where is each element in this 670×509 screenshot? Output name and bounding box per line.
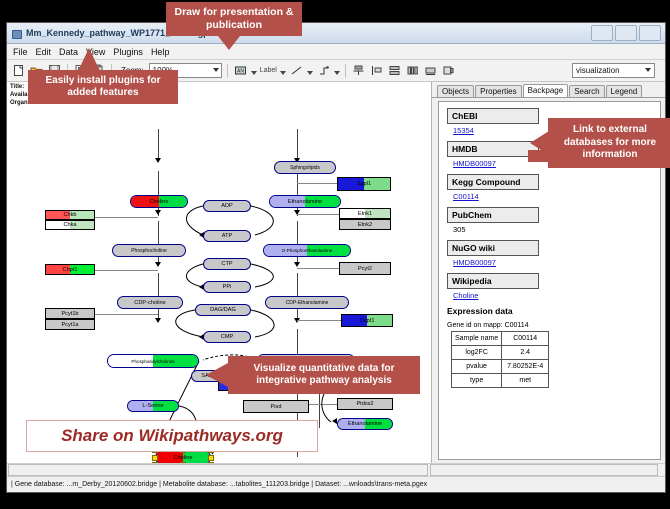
expression-data-heading: Expression data xyxy=(447,306,660,316)
gene-pcyt1b[interactable]: Pcyt1b xyxy=(45,308,95,319)
group-icon[interactable] xyxy=(423,63,438,78)
table-cell: met xyxy=(502,374,549,388)
db-header-chebi: ChEBI xyxy=(447,108,539,124)
table-row: Sample name C00114 xyxy=(452,332,549,346)
node-label: DAG/DAG xyxy=(210,307,236,313)
callout-share: Share on Wikipathways.org xyxy=(26,420,318,452)
metabolite-dag-dag[interactable]: DAG/DAG xyxy=(195,304,251,316)
chevron-down-icon[interactable] xyxy=(280,71,286,75)
status-bar: | Gene database: ...m_Derby_20120602.bri… xyxy=(7,476,665,492)
node-label: Pcyt1a xyxy=(61,322,78,328)
tab-search[interactable]: Search xyxy=(569,85,604,97)
db-header-wikipedia: Wikipedia xyxy=(447,273,539,289)
selection-handle[interactable] xyxy=(180,462,186,463)
menu-item-data[interactable]: Data xyxy=(59,47,78,57)
table-cell: pvalue xyxy=(452,360,502,374)
node-label: Pisd xyxy=(271,404,282,410)
gene-etnk2[interactable]: Etnk2 xyxy=(339,219,391,230)
chevron-down-icon[interactable] xyxy=(334,71,340,75)
side-panel-tabs: Objects Properties Backpage Search Legen… xyxy=(432,82,665,98)
metabolite-ctp[interactable]: CTP xyxy=(203,258,251,270)
db-link-nugo-wiki[interactable]: HMDB00097 xyxy=(453,258,660,267)
table-cell: type xyxy=(452,374,502,388)
svg-text:AN: AN xyxy=(237,69,244,75)
toolbar-separator xyxy=(227,64,228,78)
db-header-kegg-compound: Kegg Compound xyxy=(447,174,539,190)
table-cell: Sample name xyxy=(452,332,502,346)
db-header-nugo-wiki: NuGO wiki xyxy=(447,240,539,256)
callout-visualize: Visualize quantitative data for integrat… xyxy=(228,356,420,394)
align-left-icon[interactable] xyxy=(369,63,384,78)
visualization-select[interactable]: visualization xyxy=(572,63,655,78)
gene-sgpl1[interactable]: Sgpl1 xyxy=(337,177,391,191)
node-label: Pcyt2 xyxy=(358,266,372,272)
datanode-icon[interactable]: AN xyxy=(233,63,248,78)
node-label: Chpt1 xyxy=(63,267,78,273)
metabolite-adp[interactable]: ADP xyxy=(203,200,251,212)
metabolite-phosphatidylcholines[interactable]: Phosphatidylcholines xyxy=(107,354,199,368)
node-label: Pcyt1b xyxy=(61,311,78,317)
gene-pcyt1a[interactable]: Pcyt1a xyxy=(45,319,95,330)
chevron-down-icon xyxy=(213,68,219,72)
node-label: CTP xyxy=(221,261,232,267)
node-label: CMP xyxy=(221,334,233,340)
visualization-value: visualization xyxy=(576,66,620,75)
tab-backpage[interactable]: Backpage xyxy=(523,84,569,97)
metabolite-cmp[interactable]: CMP xyxy=(203,331,251,343)
gene-pcyt2[interactable]: Pcyt2 xyxy=(339,262,391,275)
metabolite-o-phosphoethanolamine[interactable]: O-Phosphoethanolamine xyxy=(263,244,351,257)
metabolite-ethanolamine-right[interactable]: Ethanolamine xyxy=(337,418,393,430)
chevron-down-icon[interactable] xyxy=(307,71,313,75)
table-cell: C00114 xyxy=(502,332,549,346)
callout-plugins-pointer xyxy=(78,48,100,71)
expression-table: Sample name C00114 log2FC 2.4 pvalue 7.8… xyxy=(451,331,549,388)
app-icon xyxy=(11,28,22,39)
gene-id-line: Gene id on mapp: C00114 xyxy=(447,322,660,329)
node-label: L-Serine xyxy=(142,403,163,409)
db-value-pubchem: 305 xyxy=(453,225,660,234)
gene-chpt1[interactable]: Chpt1 xyxy=(45,264,95,275)
align-center-icon[interactable] xyxy=(351,63,366,78)
close-button[interactable] xyxy=(639,25,661,41)
gene-cept1[interactable]: Cept1 xyxy=(341,314,393,327)
side-hscroll-thumb[interactable] xyxy=(430,464,658,476)
selection-handle[interactable] xyxy=(208,455,214,461)
callout-links-pointer xyxy=(530,131,549,155)
node-label: Phosphatidylcholines xyxy=(131,359,174,364)
pathway-canvas-panel[interactable]: Title: Availa Organ xyxy=(7,82,432,463)
node-label: Phosphocholine xyxy=(131,248,167,254)
node-label: O-Phosphoethanolamine xyxy=(282,248,333,253)
screenshot-root: Mm_Kennedy_pathway_WP1771_45176.gpml Fil… xyxy=(0,0,670,509)
menu-item-plugins[interactable]: Plugins xyxy=(113,47,143,57)
node-label: Etnk1 xyxy=(358,211,372,217)
order-icon[interactable] xyxy=(441,63,456,78)
line-icon[interactable] xyxy=(289,63,304,78)
node-label: Ethanolamine xyxy=(288,199,322,205)
pathway-canvas[interactable]: Title: Availa Organ xyxy=(7,82,431,463)
callout-draw: Draw for presentation & publication xyxy=(166,2,302,36)
gene-chkb[interactable]: Chkb xyxy=(45,210,95,220)
tab-objects[interactable]: Objects xyxy=(437,85,474,97)
maximize-button[interactable] xyxy=(615,25,637,41)
table-row: type met xyxy=(452,374,549,388)
node-label: Chka xyxy=(63,222,76,228)
node-label: Ptdss2 xyxy=(356,401,373,407)
menu-item-help[interactable]: Help xyxy=(151,47,170,57)
menu-item-file[interactable]: File xyxy=(13,47,28,57)
chevron-down-icon[interactable] xyxy=(251,71,257,75)
node-label: CDP-choline xyxy=(134,300,165,306)
menu-bar: File Edit Data View Plugins Help xyxy=(7,44,665,60)
selection-handle[interactable] xyxy=(152,462,158,463)
table-cell: log2FC xyxy=(452,346,502,360)
callout-visualize-pointer xyxy=(206,363,228,387)
metabolite-l-serine-left[interactable]: L-Serine xyxy=(127,400,179,412)
node-label: PPi xyxy=(223,284,232,290)
node-label: Sgpl1 xyxy=(357,181,371,187)
tab-properties[interactable]: Properties xyxy=(475,85,521,97)
node-label: Chkb xyxy=(63,212,76,218)
selection-handle[interactable] xyxy=(208,462,214,463)
node-label: ATP xyxy=(222,233,232,239)
table-row: log2FC 2.4 xyxy=(452,346,549,360)
callout-links: Link to external databases for more info… xyxy=(548,118,670,168)
metabolite-cdp-choline[interactable]: CDP-choline xyxy=(117,296,183,309)
label-dropdown-label: Label xyxy=(260,67,277,74)
chevron-down-icon xyxy=(645,68,651,72)
table-cell: 2.4 xyxy=(502,346,549,360)
toolbar-separator xyxy=(345,64,346,78)
metabolite-phosphocholine[interactable]: Phosphocholine xyxy=(112,244,186,257)
db-link-wikipedia[interactable]: Choline xyxy=(453,291,660,300)
node-label: ADP xyxy=(221,203,233,209)
tab-legend[interactable]: Legend xyxy=(606,85,643,97)
callout-plugins: Easily install plugins for added feature… xyxy=(28,70,178,104)
stack-icon[interactable] xyxy=(387,63,402,78)
table-row: pvalue 7.80252E-4 xyxy=(452,360,549,374)
connector-icon[interactable] xyxy=(316,63,331,78)
title-bar: Mm_Kennedy_pathway_WP1771_45176.gpml xyxy=(7,23,665,44)
menu-item-edit[interactable]: Edit xyxy=(36,47,52,57)
canvas-hscroll-thumb[interactable] xyxy=(8,464,428,476)
callout-draw-pointer xyxy=(218,36,240,50)
metabolite-ppi[interactable]: PPi xyxy=(203,281,251,293)
selection-handle[interactable] xyxy=(152,455,158,461)
node-label: Choline xyxy=(150,199,169,205)
gene-pisd[interactable]: Pisd xyxy=(243,400,309,413)
node-label: Sphingolipids xyxy=(290,165,320,171)
node-label: Ethanolamine xyxy=(348,421,382,427)
node-label: Etnk2 xyxy=(358,222,372,228)
new-file-icon[interactable] xyxy=(11,63,26,78)
metabolite-sphingolipids[interactable]: Sphingolipids xyxy=(274,161,336,174)
node-label: Cept1 xyxy=(360,318,375,324)
db-header-pubchem: PubChem xyxy=(447,207,539,223)
table-cell: 7.80252E-4 xyxy=(502,360,549,374)
db-header-hmdb: HMDB xyxy=(447,141,539,157)
status-text: | Gene database: ...m_Derby_20120602.bri… xyxy=(11,481,427,488)
minimize-button[interactable] xyxy=(591,25,613,41)
db-link-kegg-compound[interactable]: C00114 xyxy=(453,192,660,201)
metabolite-cdp-ethanolamine[interactable]: CDP-Ethanolamine xyxy=(265,296,349,309)
metabolite-atp[interactable]: ATP xyxy=(203,230,251,242)
gene-etnk1[interactable]: Etnk1 xyxy=(339,208,391,219)
horizontal-scrollbar[interactable] xyxy=(7,463,665,476)
gene-chka[interactable]: Chka xyxy=(45,220,95,230)
metabolite-ethanolamine-top[interactable]: Ethanolamine xyxy=(269,195,341,208)
node-label: Choline xyxy=(174,455,193,461)
node-label: CDP-Ethanolamine xyxy=(286,300,329,306)
gene-ptdss2[interactable]: Ptdss2 xyxy=(337,398,393,410)
window-buttons xyxy=(591,25,661,41)
metabolite-choline-top[interactable]: Choline xyxy=(130,195,188,208)
distribute-icon[interactable] xyxy=(405,63,420,78)
